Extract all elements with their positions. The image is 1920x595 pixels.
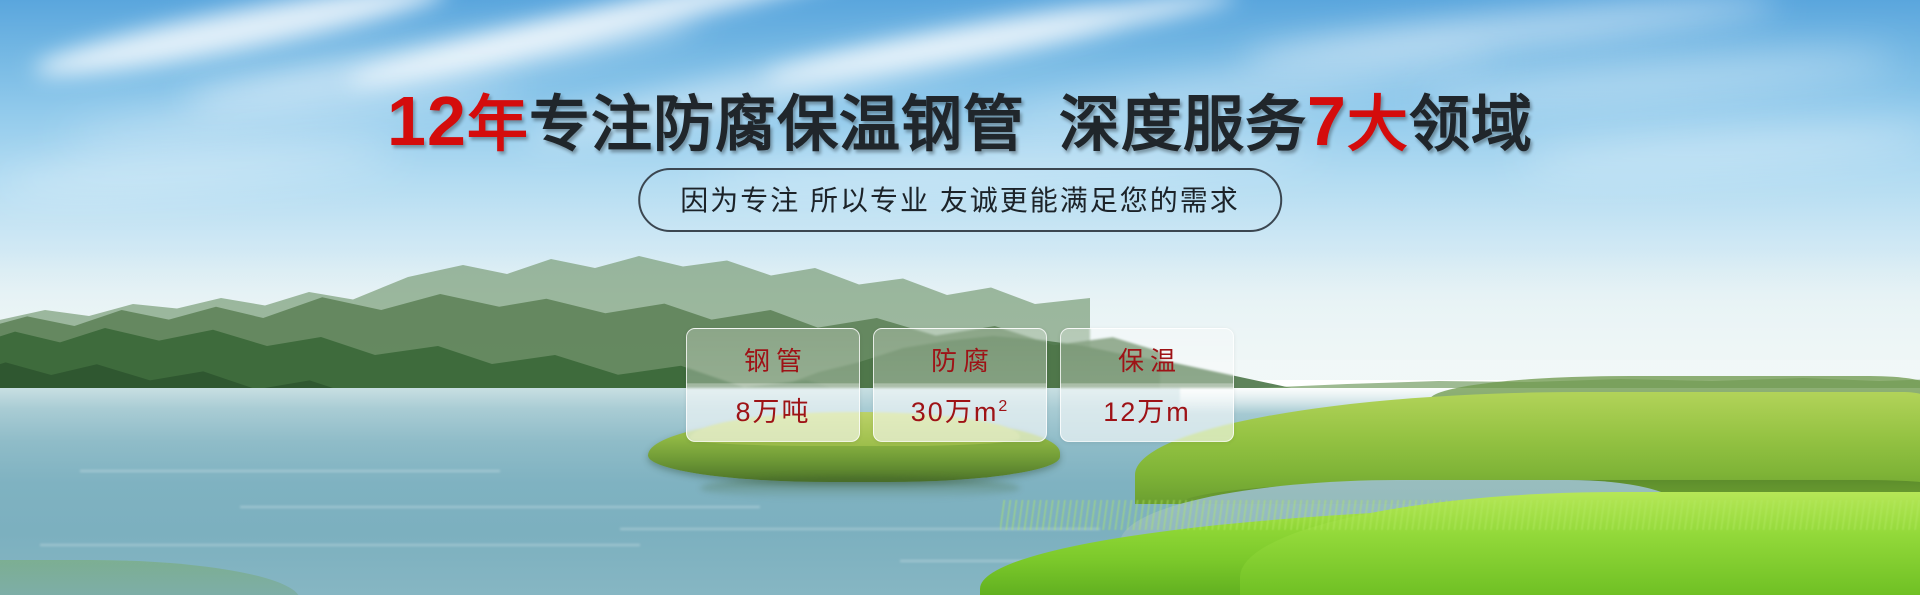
stat-card-label: 钢管: [738, 341, 808, 378]
grass-blade-texture: [1000, 500, 1920, 530]
headline-years-unit: 年: [467, 90, 529, 158]
water-ripple: [240, 506, 760, 508]
stat-card-value: 12万m: [1103, 390, 1191, 429]
headline-main-text: 专注防腐保温钢管: [529, 90, 1025, 158]
headline-fields-big: 大: [1347, 90, 1409, 158]
subtitle-pill: 因为专注 所以专业 友诚更能满足您的需求: [638, 168, 1282, 232]
stat-card-value-text: 8万吨: [735, 397, 810, 427]
stat-card-value-text: 30万m: [911, 397, 999, 427]
stat-card-steel-pipe[interactable]: 钢管 8万吨: [686, 328, 860, 442]
headline-fields-text: 领域: [1409, 90, 1533, 158]
headline-service-text: 深度服务: [1059, 90, 1307, 158]
headline-years-number: 12: [387, 82, 467, 160]
stat-card-value-exponent: 2: [998, 398, 1009, 415]
water-ripple: [80, 470, 500, 472]
island-reflection: [700, 476, 1020, 500]
stat-card-label: 防腐: [925, 341, 995, 378]
promo-banner: 12年专注防腐保温钢管深度服务7大领域 因为专注 所以专业 友诚更能满足您的需求…: [0, 0, 1920, 595]
stat-card-list: 钢管 8万吨 防腐 30万m2 保温 12万m: [686, 328, 1234, 442]
stat-card-insulation[interactable]: 保温 12万m: [1060, 328, 1234, 442]
water-ripple: [40, 544, 640, 546]
stat-card-value: 30万m2: [911, 390, 1009, 429]
stat-card-label: 保温: [1112, 341, 1182, 378]
stat-card-value: 8万吨: [735, 390, 810, 429]
headline-fields-number: 7: [1307, 82, 1347, 160]
stat-card-anticorrosion[interactable]: 防腐 30万m2: [873, 328, 1047, 442]
headline: 12年专注防腐保温钢管深度服务7大领域: [0, 86, 1920, 159]
stat-card-value-text: 12万m: [1103, 397, 1191, 427]
